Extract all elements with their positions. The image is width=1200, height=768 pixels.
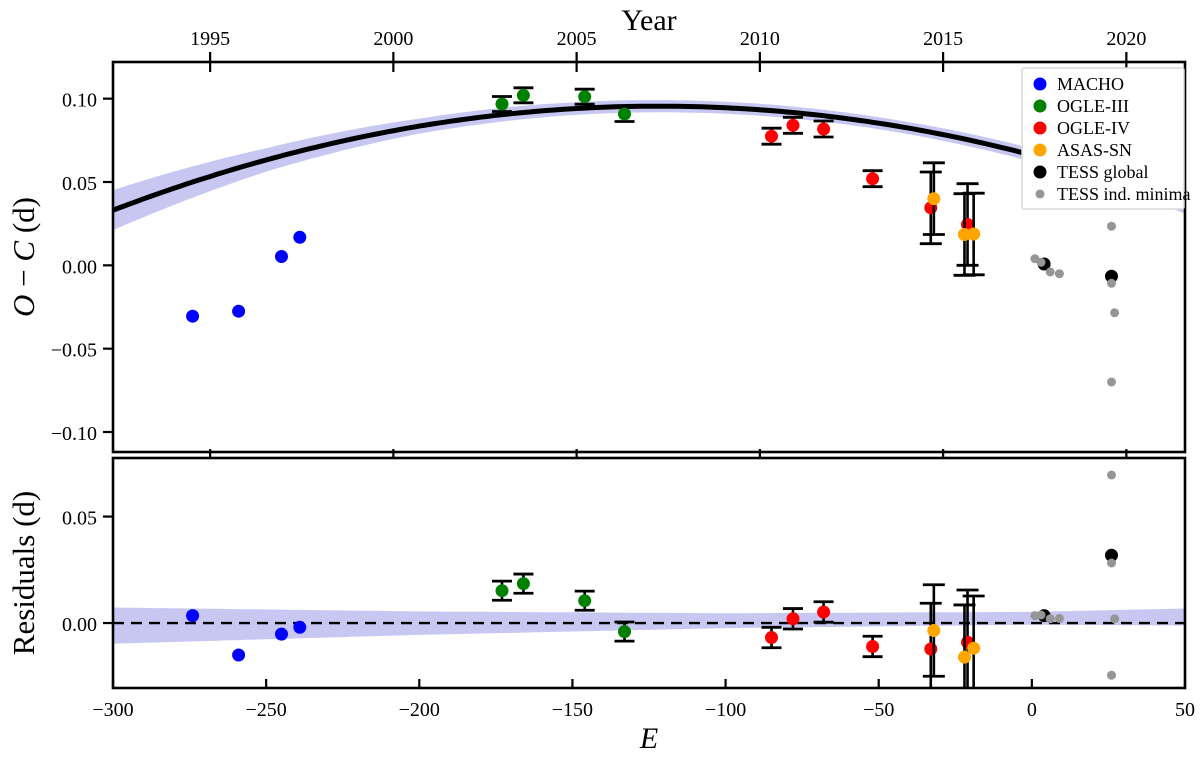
data-point-macho (293, 621, 306, 634)
data-point-asas-sn (967, 228, 980, 241)
xtick-label: −100 (705, 699, 746, 721)
data-point-tess-ind-minima (1037, 258, 1046, 267)
data-point-ogle-iv (866, 172, 879, 185)
data-point-ogle-iv (765, 631, 778, 644)
data-point-tess-ind-minima (1107, 559, 1116, 568)
data-point-asas-sn (967, 642, 980, 655)
ytick-label-upper: −0.05 (51, 340, 97, 362)
data-point-macho (275, 628, 288, 641)
legend-label-macho: MACHO (1057, 74, 1124, 94)
legend-label-ogle-iii: OGLE-III (1057, 96, 1129, 116)
xtick-label: −300 (92, 699, 133, 721)
data-point-ogle-iv (866, 640, 879, 653)
year-tick-label: 1995 (190, 28, 230, 50)
ytick-label-residual: 0.00 (62, 614, 97, 636)
data-point-macho (293, 231, 306, 244)
data-point-ogle-iii (517, 89, 530, 102)
data-point-asas-sn (927, 624, 940, 637)
data-point-tess-ind-minima (1055, 614, 1064, 623)
year-tick-label: 2000 (373, 28, 413, 50)
data-point-ogle-iv (765, 130, 778, 143)
legend-marker-asas-sn (1034, 144, 1047, 157)
data-point-ogle-iv (924, 643, 937, 656)
data-point-tess-ind-minima (1046, 614, 1055, 623)
data-point-asas-sn (927, 192, 940, 205)
xtick-label: −200 (399, 699, 440, 721)
legend-marker-ogle-iii (1034, 100, 1047, 113)
legend-label-tess-global: TESS global (1057, 162, 1149, 182)
upper-axis-title-text: O − C (d) (6, 197, 41, 317)
legend: MACHOOGLE-IIIOGLE-IVASAS-SNTESS globalTE… (1022, 68, 1191, 209)
data-point-tess-ind-minima (1110, 308, 1119, 317)
xtick-label: 50 (1175, 699, 1195, 721)
xtick-label: −250 (246, 699, 287, 721)
ytick-label-upper: 0.10 (62, 90, 97, 112)
data-point-ogle-iv (817, 123, 830, 136)
xtick-label: −150 (552, 699, 593, 721)
ytick-label-residual: 0.05 (62, 508, 97, 530)
data-point-macho (232, 305, 245, 318)
xtick-label: 0 (1027, 699, 1037, 721)
data-point-tess-ind-minima (1107, 279, 1116, 288)
data-point-ogle-iii (496, 584, 509, 597)
legend-marker-tess-ind-minima (1036, 190, 1045, 199)
legend-marker-ogle-iv (1034, 122, 1047, 135)
legend-label-asas-sn: ASAS-SN (1057, 140, 1132, 160)
data-point-ogle-iii (517, 577, 530, 590)
top-axis-title: Year (621, 4, 676, 37)
data-point-ogle-iii (578, 90, 591, 103)
data-point-tess-ind-minima (1107, 222, 1116, 231)
data-point-ogle-iii (496, 98, 509, 111)
data-point-tess-ind-minima (1055, 269, 1064, 278)
data-point-tess-ind-minima (1110, 614, 1119, 623)
data-point-macho (275, 250, 288, 263)
data-point-tess-ind-minima (1107, 471, 1116, 480)
legend-label-ogle-iv: OGLE-IV (1057, 118, 1130, 138)
year-tick-label: 2005 (557, 28, 597, 50)
ytick-label-upper: 0.05 (62, 173, 97, 195)
bottom-axis-title: E (639, 722, 658, 755)
data-point-macho (232, 649, 245, 662)
data-point-ogle-iv (787, 119, 800, 132)
ytick-label-upper: 0.00 (62, 256, 97, 278)
data-point-ogle-iv (817, 606, 830, 619)
upper-axis-title: O − C (d) (6, 197, 41, 317)
year-tick-label: 2015 (923, 28, 963, 50)
data-point-tess-ind-minima (1107, 378, 1116, 387)
oc-diagram-svg: −300−250−200−150−100−5005019952000200520… (0, 0, 1200, 768)
legend-label-tess-ind-minima: TESS ind. minima (1057, 184, 1191, 204)
data-point-macho (186, 609, 199, 622)
data-point-ogle-iv (787, 612, 800, 625)
figure-root: −300−250−200−150−100−5005019952000200520… (0, 0, 1200, 768)
figure-background (0, 0, 1200, 768)
data-point-ogle-iii (578, 594, 591, 607)
legend-marker-macho (1034, 78, 1047, 91)
ytick-label-upper: −0.10 (51, 423, 97, 445)
residual-axis-title: Residuals (d) (6, 491, 41, 655)
xtick-label: −50 (863, 699, 894, 721)
residual-axis-title-text: Residuals (d) (6, 491, 41, 655)
data-point-ogle-iii (618, 108, 631, 121)
data-point-tess-ind-minima (1046, 268, 1055, 277)
year-tick-label: 2010 (740, 28, 780, 50)
legend-marker-tess-global (1034, 166, 1047, 179)
data-point-tess-ind-minima (1037, 611, 1046, 620)
data-point-macho (186, 310, 199, 323)
data-point-ogle-iii (618, 625, 631, 638)
year-tick-label: 2020 (1106, 28, 1146, 50)
data-point-tess-ind-minima (1107, 671, 1116, 680)
